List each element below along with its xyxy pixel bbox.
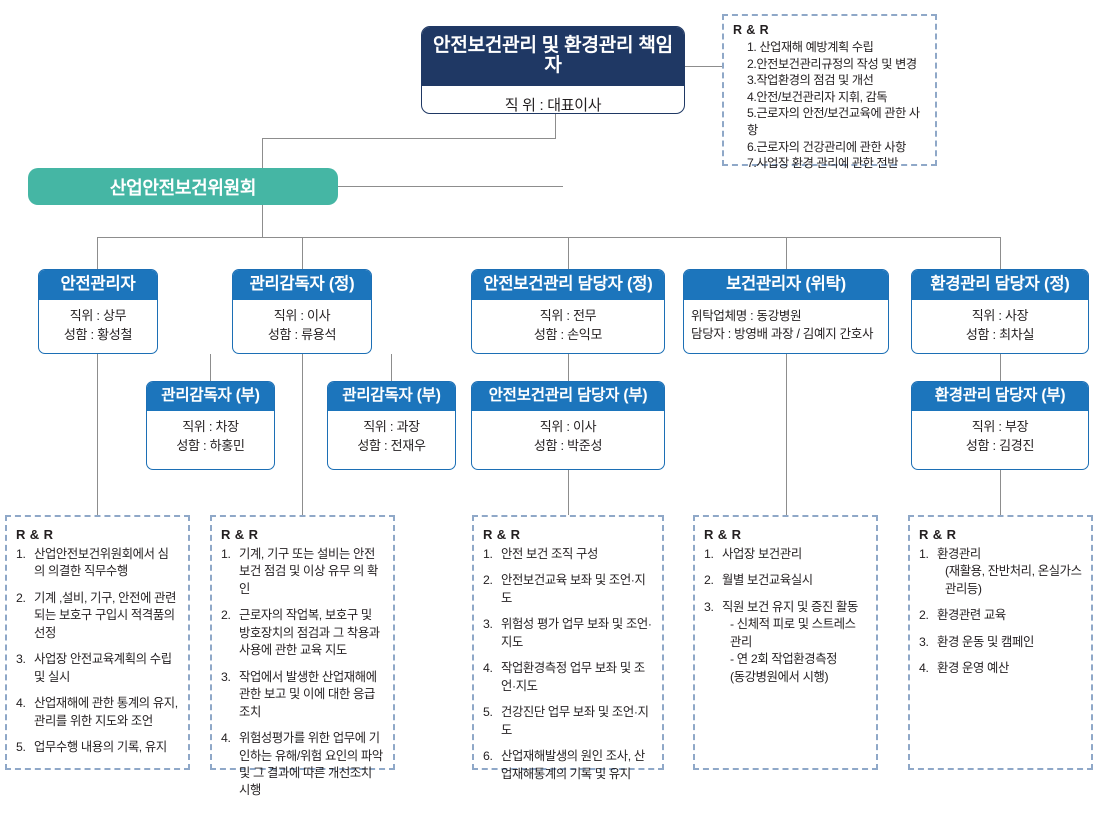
rr-item: 2.안전보건교육 보좌 및 조언·지도 xyxy=(483,572,653,607)
rr-box-supervisor: R & R 1.기계, 기구 또는 설비는 안전 보건 점검 및 이상 유무 의… xyxy=(210,515,395,770)
node-supervisor-deputy-2[interactable]: 관리감독자 (부) 직위 : 과장 성함 : 전재우 xyxy=(327,381,456,470)
node-health-manager-title: 보건관리자 (위탁) xyxy=(684,270,888,300)
node-supervisor-deputy-1-position: 직위 : 차장 xyxy=(155,418,266,437)
rr-list: 1.기계, 기구 또는 설비는 안전 보건 점검 및 이상 유무 의 확인 2.… xyxy=(221,546,384,800)
rr-item: 1.안전 보건 조직 구성 xyxy=(483,546,653,563)
node-env-officer-deputy[interactable]: 환경관리 담당자 (부) 직위 : 부장 성함 : 김경진 xyxy=(911,381,1089,470)
connector-safety-manager-to-rr xyxy=(97,354,98,515)
node-supervisor-deputy-2-position: 직위 : 과장 xyxy=(336,418,447,437)
rr-item: 3.작업환경의 점검 및 개선 xyxy=(733,72,927,89)
rr-title: R & R xyxy=(483,527,653,542)
node-health-manager-contacts: 담당자 : 방영배 과장 / 김예지 간호사 xyxy=(691,325,880,343)
rr-list: 1.사업장 보건관리 2.월별 보건교육실시 3.직원 보건 유지 및 증진 활… xyxy=(704,546,867,686)
node-shm-officer-primary-body: 직위 : 전무 성함 : 손익모 xyxy=(472,300,664,353)
connector-committee-link xyxy=(337,186,563,187)
rr-subitem: - 연 2회 작업환경측정 xyxy=(722,651,867,668)
rr-item: 3.작업에서 발생한 산업재해에 관한 보고 및 이에 대한 응급조치 xyxy=(221,669,384,721)
node-health-manager-vendor: 위탁업체명 : 동강병원 xyxy=(691,307,880,325)
rr-box-shm-officer: R & R 1.안전 보건 조직 구성 2.안전보건교육 보좌 및 조언·지도 … xyxy=(472,515,664,770)
node-env-officer-primary-position: 직위 : 사장 xyxy=(920,307,1080,326)
node-supervisor-deputy-2-name: 성함 : 전재우 xyxy=(336,437,447,456)
rr-title: R & R xyxy=(704,527,867,542)
node-supervisor-deputy-2-title: 관리감독자 (부) xyxy=(328,382,455,411)
node-env-officer-deputy-title: 환경관리 담당자 (부) xyxy=(912,382,1088,411)
connector-drop-supervisor-deputy-2 xyxy=(391,354,392,381)
rr-subitem: (동강병원에서 시행) xyxy=(722,669,867,686)
rr-item: 4.위험성평가를 위한 업무에 기인하는 유해/위험 요인의 파악 및 그 결과… xyxy=(221,730,384,800)
rr-subitem: 관리등) xyxy=(937,581,1082,598)
connector-shm-officer-to-rr xyxy=(568,354,569,381)
node-supervisor-deputy-1[interactable]: 관리감독자 (부) 직위 : 차장 성함 : 하홍민 xyxy=(146,381,275,470)
rr-list: 1. 산업재해 예방계획 수립 2.안전보건관리규정의 작성 및 변경 3.작업… xyxy=(733,39,927,172)
rr-item: 7.사업장 환경 관리에 관한 전반 xyxy=(733,155,927,172)
rr-item: 5.건강진단 업무 보좌 및 조언·지도 xyxy=(483,704,653,739)
node-chief-officer-position: 직 위 : 대표이사 xyxy=(430,95,676,114)
node-health-manager-body: 위탁업체명 : 동강병원 담당자 : 방영배 과장 / 김예지 간호사 xyxy=(684,300,888,351)
node-safety-manager-title: 안전관리자 xyxy=(39,270,157,300)
rr-item: 2.환경관련 교육 xyxy=(919,607,1082,624)
node-shm-officer-deputy[interactable]: 안전보건관리 담당자 (부) 직위 : 이사 성함 : 박준성 xyxy=(471,381,665,470)
node-supervisor-deputy-1-name: 성함 : 하홍민 xyxy=(155,437,266,456)
connector-drop-safety-manager xyxy=(97,237,98,269)
rr-list: 1.환경관리 (재활용, 잔반처리, 온실가스 관리등) 2.환경관련 교육 3… xyxy=(919,546,1082,678)
rr-list: 1.산업안전보건위원회에서 심의 의결한 직무수행 2.기계 ,설비, 기구, … xyxy=(16,546,179,757)
rr-item: 4.안전/보건관리자 지휘, 감독 xyxy=(733,89,927,106)
rr-item: 5.근로자의 안전/보건교육에 관한 사항 xyxy=(733,105,927,138)
rr-box-env-officer: R & R 1.환경관리 (재활용, 잔반처리, 온실가스 관리등) 2.환경관… xyxy=(908,515,1093,770)
rr-item: 3.위험성 평가 업무 보좌 및 조언·지도 xyxy=(483,616,653,651)
rr-item: 1.사업장 보건관리 xyxy=(704,546,867,563)
rr-box-chief-officer: R & R 1. 산업재해 예방계획 수립 2.안전보건관리규정의 작성 및 변… xyxy=(722,14,937,166)
node-supervisor-primary-name: 성함 : 류용석 xyxy=(241,326,363,345)
node-health-manager-outsourced[interactable]: 보건관리자 (위탁) 위탁업체명 : 동강병원 담당자 : 방영배 과장 / 김… xyxy=(683,269,889,354)
rr-item: 2.근로자의 작업복, 보호구 및 방호장치의 점검과 그 착용과 사용에 관한… xyxy=(221,607,384,659)
org-chart: 안전보건관리 및 환경관리 책임자 직 위 : 대표이사 성 함 : 정 성 호… xyxy=(0,0,1100,813)
connector-drop-env-officer xyxy=(1000,237,1001,269)
node-chief-officer-body: 직 위 : 대표이사 성 함 : 정 성 호 xyxy=(422,86,684,114)
node-supervisor-deputy-1-body: 직위 : 차장 성함 : 하홍민 xyxy=(147,411,274,464)
node-env-officer-deputy-body: 직위 : 부장 성함 : 김경진 xyxy=(912,411,1088,464)
connector-root-to-trunk xyxy=(262,138,556,139)
rr-title: R & R xyxy=(221,527,384,542)
rr-item: 4.산업재해에 관한 통계의 유지, 관리를 위한 지도와 조언 xyxy=(16,695,179,730)
rr-title: R & R xyxy=(16,527,179,542)
connector-env-deputy-to-rr xyxy=(1000,470,1001,515)
connector-supervisor-to-rr xyxy=(302,354,303,515)
connector-shm-deputy-to-rr xyxy=(568,470,569,515)
rr-list: 1.안전 보건 조직 구성 2.안전보건교육 보좌 및 조언·지도 3.위험성 … xyxy=(483,546,653,783)
node-safety-health-committee[interactable]: 산업안전보건위원회 xyxy=(28,168,338,205)
rr-item: 1.산업안전보건위원회에서 심의 의결한 직무수행 xyxy=(16,546,179,581)
node-safety-manager-body: 직위 : 상무 성함 : 황성철 xyxy=(39,300,157,353)
rr-subitem: - 신체적 피로 및 스트레스 관리 xyxy=(722,616,867,651)
rr-item: 3.환경 운동 및 캠페인 xyxy=(919,634,1082,651)
rr-item: 6.근로자의 건강관리에 관한 사항 xyxy=(733,139,927,156)
node-supervisor-primary-body: 직위 : 이사 성함 : 류용석 xyxy=(233,300,371,353)
node-supervisor-primary-title: 관리감독자 (정) xyxy=(233,270,371,300)
rr-item: 2.기계 ,설비, 기구, 안전에 관련되는 보호구 구입시 적격품의 선정 xyxy=(16,590,179,642)
node-env-officer-primary[interactable]: 환경관리 담당자 (정) 직위 : 사장 성함 : 최차실 xyxy=(911,269,1089,354)
node-shm-officer-primary[interactable]: 안전보건관리 담당자 (정) 직위 : 전무 성함 : 손익모 xyxy=(471,269,665,354)
node-env-officer-primary-title: 환경관리 담당자 (정) xyxy=(912,270,1088,300)
rr-box-health-manager: R & R 1.사업장 보건관리 2.월별 보건교육실시 3.직원 보건 유지 … xyxy=(693,515,878,770)
node-shm-officer-deputy-title: 안전보건관리 담당자 (부) xyxy=(472,382,664,411)
node-env-officer-deputy-name: 성함 : 김경진 xyxy=(920,437,1080,456)
node-supervisor-deputy-1-title: 관리감독자 (부) xyxy=(147,382,274,411)
rr-item: 3.사업장 안전교육계획의 수립 및 실시 xyxy=(16,651,179,686)
rr-item: 3.직원 보건 유지 및 증진 활동 - 신체적 피로 및 스트레스 관리 - … xyxy=(704,599,867,686)
rr-subitem: (재활용, 잔반처리, 온실가스 xyxy=(937,563,1082,580)
connector-drop-health-manager xyxy=(786,237,787,269)
node-env-officer-deputy-position: 직위 : 부장 xyxy=(920,418,1080,437)
connector-root-to-rr xyxy=(685,66,722,67)
node-shm-officer-deputy-name: 성함 : 박준성 xyxy=(480,437,656,456)
rr-item: 5.업무수행 내용의 기록, 유지 xyxy=(16,739,179,756)
node-shm-officer-deputy-position: 직위 : 이사 xyxy=(480,418,656,437)
rr-item: 6.산업재해발생의 원인 조사, 산업재해통계의 기록 및 유지 xyxy=(483,748,653,783)
node-supervisor-primary[interactable]: 관리감독자 (정) 직위 : 이사 성함 : 류용석 xyxy=(232,269,372,354)
rr-item: 4.작업환경측정 업무 보좌 및 조언·지도 xyxy=(483,660,653,695)
connector-drop-shm-officer xyxy=(568,237,569,269)
node-shm-officer-primary-name: 성함 : 손익모 xyxy=(480,326,656,345)
connector-drop-supervisor-deputy-1 xyxy=(210,354,211,381)
node-shm-officer-deputy-body: 직위 : 이사 성함 : 박준성 xyxy=(472,411,664,464)
connector-env-officer-to-deputy xyxy=(1000,354,1001,381)
rr-item: 2.월별 보건교육실시 xyxy=(704,572,867,589)
connector-drop-supervisor xyxy=(302,237,303,269)
committee-label: 산업안전보건위원회 xyxy=(110,174,256,200)
connector-level2-bus xyxy=(97,237,1000,238)
rr-title: R & R xyxy=(733,23,927,37)
node-env-officer-primary-body: 직위 : 사장 성함 : 최차실 xyxy=(912,300,1088,353)
rr-item: 1.환경관리 (재활용, 잔반처리, 온실가스 관리등) xyxy=(919,546,1082,598)
node-safety-manager-position: 직위 : 상무 xyxy=(47,307,149,326)
node-shm-officer-primary-position: 직위 : 전무 xyxy=(480,307,656,326)
node-env-officer-primary-name: 성함 : 최차실 xyxy=(920,326,1080,345)
rr-item: 2.안전보건관리규정의 작성 및 변경 xyxy=(733,56,927,73)
connector-health-manager-to-rr xyxy=(786,354,787,515)
node-safety-manager[interactable]: 안전관리자 직위 : 상무 성함 : 황성철 xyxy=(38,269,158,354)
node-chief-officer-title: 안전보건관리 및 환경관리 책임자 xyxy=(422,27,684,86)
rr-item: 1. 산업재해 예방계획 수립 xyxy=(733,39,927,56)
rr-box-safety-manager: R & R 1.산업안전보건위원회에서 심의 의결한 직무수행 2.기계 ,설비… xyxy=(5,515,190,770)
node-shm-officer-primary-title: 안전보건관리 담당자 (정) xyxy=(472,270,664,300)
node-safety-manager-name: 성함 : 황성철 xyxy=(47,326,149,345)
node-supervisor-deputy-2-body: 직위 : 과장 성함 : 전재우 xyxy=(328,411,455,464)
node-chief-officer[interactable]: 안전보건관리 및 환경관리 책임자 직 위 : 대표이사 성 함 : 정 성 호 xyxy=(421,26,685,114)
rr-item: 1.기계, 기구 또는 설비는 안전 보건 점검 및 이상 유무 의 확인 xyxy=(221,546,384,598)
rr-title: R & R xyxy=(919,527,1082,542)
rr-item: 4.환경 운영 예산 xyxy=(919,660,1082,677)
node-supervisor-primary-position: 직위 : 이사 xyxy=(241,307,363,326)
connector-root-stem xyxy=(555,113,556,138)
